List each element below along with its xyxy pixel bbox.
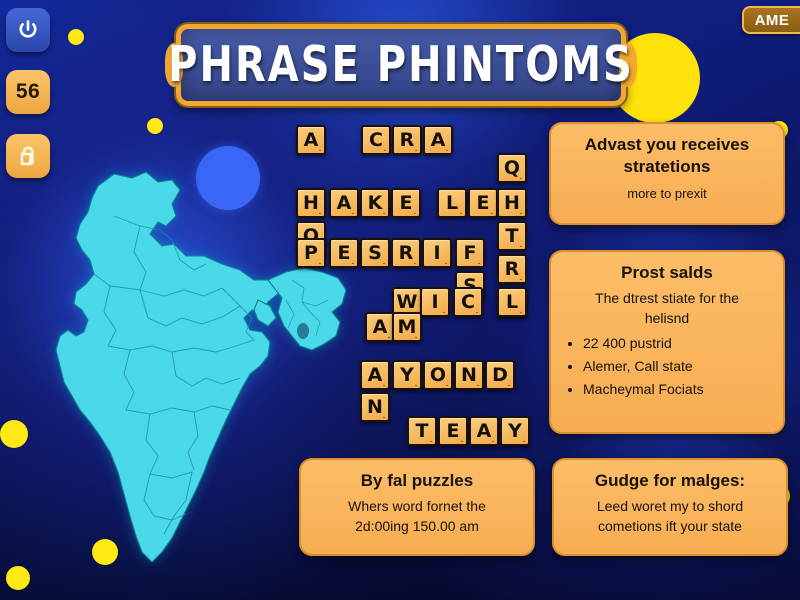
letter-tile[interactable]: E.: [468, 188, 498, 218]
power-icon: [16, 18, 40, 42]
notice-card-title: Advast you receives: [565, 134, 769, 156]
letter-tile-dot: .: [477, 381, 479, 388]
letter-tile[interactable]: Y.: [500, 416, 530, 446]
letter-tile[interactable]: Y.: [392, 360, 422, 390]
letter-tile[interactable]: A.: [365, 312, 395, 342]
letter-tile[interactable]: E.: [438, 416, 468, 446]
guide-card[interactable]: Gudge for malges: Leed woret my to shord…: [552, 458, 788, 556]
letter-tile-dot: .: [461, 437, 463, 444]
game-screen: 56 AME PHRASE PHINTOMS A.C.R.A.Q.H.A.K.E…: [0, 0, 800, 600]
letter-tile[interactable]: H.: [497, 188, 527, 218]
letter-tile-dot: .: [415, 333, 417, 340]
letter-tile-dot: .: [508, 381, 510, 388]
letter-tile[interactable]: E.: [391, 188, 421, 218]
stats-card[interactable]: Prost salds The dtrest stiate for the he…: [549, 250, 785, 434]
letter-tile[interactable]: I.: [420, 287, 450, 317]
letter-tile-dot: .: [520, 174, 522, 181]
letter-tile-dot: .: [520, 308, 522, 315]
letter-tile-dot: .: [460, 209, 462, 216]
puzzles-card-line1: Whers word fornet the: [315, 496, 519, 516]
letter-tile-dot: .: [443, 308, 445, 315]
guide-card-line1: Leed woret my to shord: [568, 496, 772, 516]
letter-tile[interactable]: E.: [329, 238, 359, 268]
list-item: Macheymal Fociats: [583, 378, 769, 401]
power-button[interactable]: [6, 8, 50, 52]
decor-circle-yellow: [68, 29, 84, 45]
letter-tile[interactable]: L.: [437, 188, 467, 218]
letter-tile-dot: .: [383, 259, 385, 266]
letter-tile[interactable]: Q.: [497, 153, 527, 183]
letter-tile-dot: .: [352, 259, 354, 266]
score-button[interactable]: 56: [6, 70, 50, 114]
letter-tile-dot: .: [415, 146, 417, 153]
letter-tile[interactable]: O.: [423, 360, 453, 390]
status-badge[interactable]: AME: [742, 6, 800, 34]
letter-tile[interactable]: F.: [455, 238, 485, 268]
letter-tile[interactable]: T.: [497, 221, 527, 251]
puzzles-card-line2: 2d:00ing 150.00 am: [315, 516, 519, 536]
letter-tile[interactable]: H.: [296, 188, 326, 218]
guide-card-title: Gudge for malges:: [568, 470, 772, 492]
letter-tile[interactable]: A.: [360, 360, 390, 390]
puzzles-card[interactable]: By fal puzzles Whers word fornet the 2d:…: [299, 458, 535, 556]
letter-tile[interactable]: R.: [391, 238, 421, 268]
list-item: Alemer, Call state: [583, 355, 769, 378]
stats-card-title: Prost salds: [565, 262, 769, 284]
letter-tile-dot: .: [414, 209, 416, 216]
letter-tile-dot: .: [491, 209, 493, 216]
decor-circle-yellow: [0, 420, 28, 448]
letter-tile-dot: .: [446, 146, 448, 153]
guide-card-line2: cometions ift your state: [568, 516, 772, 536]
title-plaque: PHRASE PHINTOMS: [176, 24, 626, 106]
letter-tile[interactable]: A.: [329, 188, 359, 218]
letter-tile[interactable]: C.: [453, 287, 483, 317]
score-value: 56: [16, 80, 40, 104]
letter-tile-dot: .: [415, 381, 417, 388]
letter-tile-dot: .: [523, 437, 525, 444]
stats-card-line1: The dtrest stiate for the: [565, 288, 769, 308]
list-item: 22 400 pustrid: [583, 332, 769, 355]
notice-card-title-2: stratetions: [565, 156, 769, 178]
letter-tile-dot: .: [384, 146, 386, 153]
letter-tile[interactable]: A.: [423, 125, 453, 155]
letter-tile-dot: .: [478, 259, 480, 266]
decor-circle-yellow: [6, 566, 30, 590]
letter-tile-dot: .: [492, 437, 494, 444]
letter-tile[interactable]: P.: [296, 238, 326, 268]
page-title: PHRASE PHINTOMS: [168, 37, 634, 93]
stats-card-bullets: 22 400 pustrid Alemer, Call state Machey…: [565, 332, 769, 401]
letter-tile-dot: .: [520, 242, 522, 249]
letter-tile[interactable]: K.: [360, 188, 390, 218]
letter-tile[interactable]: T.: [407, 416, 437, 446]
letter-tile-dot: .: [383, 413, 385, 420]
letter-tile[interactable]: L.: [497, 287, 527, 317]
letter-tile[interactable]: C.: [361, 125, 391, 155]
letter-tile[interactable]: N.: [360, 392, 390, 422]
letter-tile[interactable]: D.: [485, 360, 515, 390]
stats-card-line2: helisnd: [565, 308, 769, 328]
letter-tile-dot: .: [319, 259, 321, 266]
letter-tile[interactable]: R.: [392, 125, 422, 155]
letter-tile-dot: .: [388, 333, 390, 340]
letter-tile-dot: .: [476, 308, 478, 315]
letter-tile-dot: .: [446, 381, 448, 388]
lock-icon: [16, 143, 40, 169]
letter-tile-dot: .: [319, 209, 321, 216]
letter-tile[interactable]: N.: [454, 360, 484, 390]
letter-tile-dot: .: [352, 209, 354, 216]
puzzles-card-title: By fal puzzles: [315, 470, 519, 492]
decor-circle-yellow: [147, 118, 163, 134]
letter-tile[interactable]: A.: [469, 416, 499, 446]
letter-tile-dot: .: [430, 437, 432, 444]
letter-tile[interactable]: A.: [296, 125, 326, 155]
letter-tile-dot: .: [414, 259, 416, 266]
letter-tile-dot: .: [445, 259, 447, 266]
notice-card[interactable]: Advast you receives stratetions more to …: [549, 122, 785, 225]
letter-tile[interactable]: R.: [497, 254, 527, 284]
letter-tile[interactable]: S.: [360, 238, 390, 268]
lock-button[interactable]: [6, 134, 50, 178]
letter-tile[interactable]: I.: [422, 238, 452, 268]
letter-tile-dot: .: [319, 146, 321, 153]
letter-tile-dot: .: [520, 209, 522, 216]
letter-tile[interactable]: M.: [392, 312, 422, 342]
letter-tile-dot: .: [383, 381, 385, 388]
letter-tile-dot: .: [520, 275, 522, 282]
notice-card-sub: more to prexit: [565, 184, 769, 204]
letter-tile-dot: .: [383, 209, 385, 216]
